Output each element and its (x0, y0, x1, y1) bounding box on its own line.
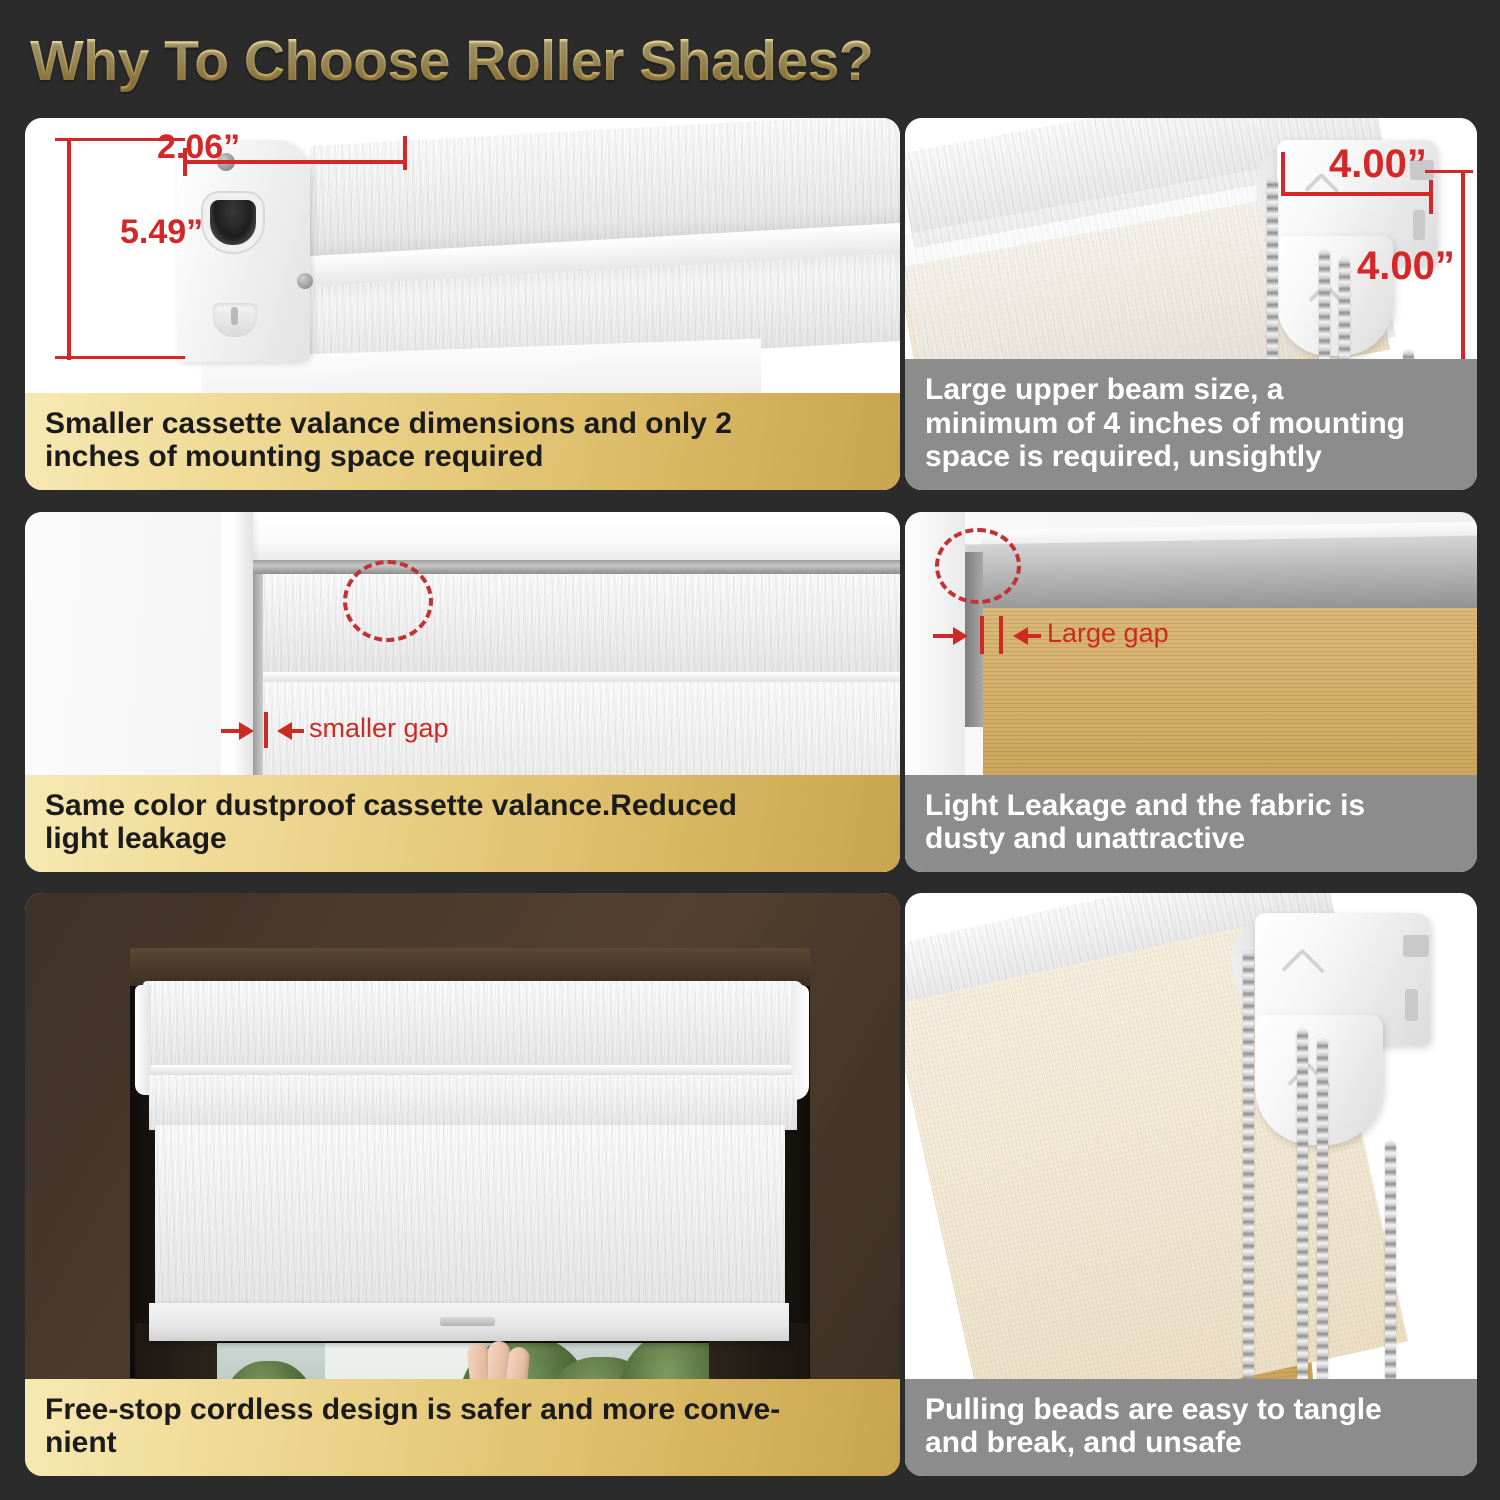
cassette-valance (143, 981, 803, 1073)
caption-line: Light Leakage and the fabric is (925, 789, 1459, 823)
caption-line: nient (45, 1426, 882, 1460)
height-dimension-label: 4.00” (1357, 244, 1455, 289)
gap-tick (980, 616, 984, 654)
caption-line: Pulling beads are easy to tangle (925, 1393, 1459, 1427)
width-dimension-label: 4.00” (1329, 142, 1427, 187)
caption-line: dusty and unattractive (925, 822, 1459, 856)
bead-chain (1243, 951, 1254, 1391)
caption-line: minimum of 4 inches of mounting (925, 407, 1459, 441)
caption-line: and break, and unsafe (925, 1426, 1459, 1460)
height-dimension-tick-top (1425, 170, 1473, 173)
bracket-slot-icon (1403, 935, 1429, 957)
caption-line: Free-stop cordless design is safer and m… (45, 1393, 882, 1427)
shade-upper-band (149, 1075, 797, 1130)
panel-con-light-leakage: Large gap Light Leakage and the fabric i… (905, 512, 1477, 872)
caption-line: Large upper beam size, a (925, 373, 1459, 407)
panel-pro-cassette-size: 2.06” 5.49” Smaller cassette valance dim… (25, 118, 900, 490)
caption-pro-cassette-size: Smaller cassette valance dimensions and … (25, 393, 900, 490)
panel-con-pulling-beads: Pulling beads are easy to tangle and bre… (905, 893, 1477, 1476)
caption-line: Same color dustproof cassette valance.Re… (45, 789, 882, 823)
caption-line: inches of mounting space required (45, 440, 882, 474)
width-dimension-tick-right (403, 136, 407, 170)
gap-arrow-tail-right (290, 729, 304, 733)
gap-callout-label: Large gap (1047, 618, 1169, 649)
height-dimension-line (1461, 172, 1465, 362)
gap-arrow-tail-left (221, 729, 241, 733)
bead-chain (1385, 1141, 1396, 1391)
bead-chain (1297, 1029, 1308, 1391)
bracket-slot-icon (1413, 210, 1425, 240)
gap-arrow-tail-left (933, 634, 955, 638)
caption-line: light leakage (45, 822, 882, 856)
shade-fabric (155, 1125, 785, 1310)
highlight-ellipse (343, 560, 433, 642)
panel-pro-dustproof-valance: smaller gap Same color dustproof cassett… (25, 512, 900, 872)
caption-pro-dustproof-valance: Same color dustproof cassette valance.Re… (25, 775, 900, 872)
caption-line: Smaller cassette valance dimensions and … (45, 407, 882, 441)
gap-tick (264, 712, 268, 748)
gap-callout-label: smaller gap (309, 713, 449, 744)
endcap-slot-icon (210, 200, 256, 245)
width-dimension-tick-left (1281, 152, 1285, 196)
bottom-rail-grip (440, 1317, 495, 1326)
head-rail (253, 560, 900, 574)
height-dimension-tick-bottom (55, 356, 185, 359)
caption-con-pulling-beads: Pulling beads are easy to tangle and bre… (905, 1379, 1477, 1476)
gap-tick (999, 616, 1003, 654)
caption-con-beam-size: Large upper beam size, a minimum of 4 in… (905, 359, 1477, 490)
comparison-grid: 2.06” 5.49” Smaller cassette valance dim… (0, 0, 1500, 1500)
gap-arrow-right-icon (953, 627, 968, 645)
bead-chain (1317, 1039, 1328, 1391)
height-dimension-line (67, 140, 71, 360)
panel-pro-cordless-design: Free-stop cordless design is safer and m… (25, 893, 900, 1476)
height-dimension-label: 5.49” (120, 213, 203, 252)
caption-con-light-leakage: Light Leakage and the fabric is dusty an… (905, 775, 1477, 872)
gap-arrow-left-icon (1013, 627, 1028, 645)
highlight-ellipse (935, 528, 1021, 604)
screw-icon (297, 273, 313, 289)
caption-pro-cordless-design: Free-stop cordless design is safer and m… (25, 1379, 900, 1476)
gap-arrow-right-icon (239, 722, 254, 740)
window-frame-header (221, 512, 900, 566)
bracket-slot-icon (1405, 989, 1418, 1021)
width-dimension-label: 2.06” (157, 128, 240, 167)
gap-arrow-tail-right (1027, 634, 1041, 638)
caption-line: space is required, unsightly (925, 440, 1459, 474)
width-dimension-tick-right (1429, 180, 1433, 214)
width-dimension-line (1283, 192, 1431, 196)
panel-con-beam-size: 4.00” 4.00” Large upper beam size, a min… (905, 118, 1477, 490)
